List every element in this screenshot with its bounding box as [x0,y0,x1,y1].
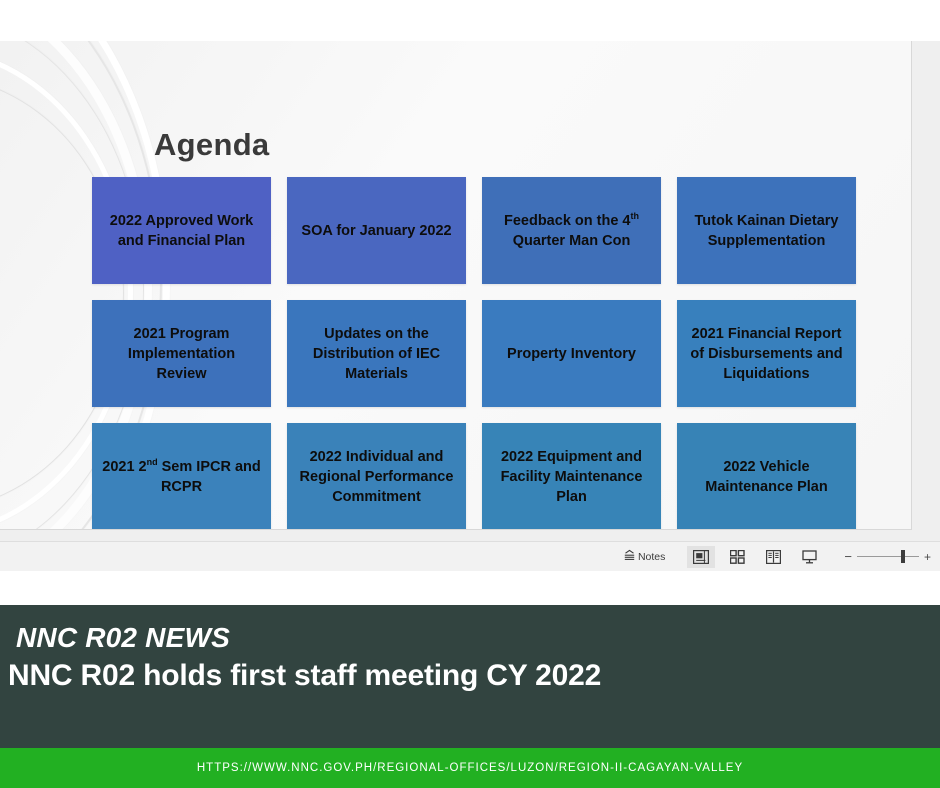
tile-ipcr-rcpr[interactable]: 2021 2nd Sem IPCR and RCPR [92,423,271,530]
tile-label: Quarter Man Con [513,233,631,249]
tile-label: 2022 Vehicle Maintenance Plan [686,457,847,497]
notes-label: Notes [638,551,665,563]
agenda-tile-grid: 2022 Approved Work and Financial PlanSOA… [92,177,857,530]
tile-label: Sem IPCR and RCPR [158,459,261,495]
tile-label: SOA for January 2022 [301,221,451,241]
notes-button[interactable]: Notes [623,549,665,565]
tile-label: 2022 Approved Work and Financial Plan [101,211,262,251]
powerpoint-canvas: Agenda 2022 Approved Work and Financial … [0,41,940,541]
tile-label-superscript: nd [147,457,158,467]
zoom-controls[interactable]: − + [839,549,936,564]
tile-label-superscript: th [631,211,640,221]
website-url: HTTPS://WWW.NNC.GOV.PH/REGIONAL-OFFICES/… [197,762,743,774]
tile-financial-report[interactable]: 2021 Financial Report of Disbursements a… [677,300,856,407]
tile-label: Updates on the Distribution of IEC Mater… [296,324,457,384]
tile-iec-materials[interactable]: Updates on the Distribution of IEC Mater… [287,300,466,407]
top-white-strip [0,0,940,41]
tile-label: 2022 Equipment and Facility Maintenance … [491,447,652,507]
tile-vehicle-maintenance-plan[interactable]: 2022 Vehicle Maintenance Plan [677,423,856,530]
tile-label: 2021 2 [102,459,146,475]
zoom-slider[interactable] [857,556,919,557]
tile-label: 2021 Program Implementation Review [101,324,262,384]
tile-label: 2022 Individual and Regional Performance… [296,447,457,507]
news-banner: NNC R02 NEWS NNC R02 holds first staff m… [0,605,940,748]
zoom-slider-handle[interactable] [901,550,905,563]
zoom-in-button[interactable]: + [919,550,936,564]
tile-property-inventory[interactable]: Property Inventory [482,300,661,407]
tile-feedback-man-con[interactable]: Feedback on the 4th Quarter Man Con [482,177,661,284]
tile-label: 2021 Financial Report of Disbursements a… [686,324,847,384]
tile-tutok-kainan[interactable]: Tutok Kainan Dietary Supplementation [677,177,856,284]
slide-title: Agenda [154,127,269,163]
url-bar: HTTPS://WWW.NNC.GOV.PH/REGIONAL-OFFICES/… [0,748,940,788]
notes-icon [623,549,636,565]
tile-performance-commitment[interactable]: 2022 Individual and Regional Performance… [287,423,466,530]
presentation-slide[interactable]: Agenda 2022 Approved Work and Financial … [0,41,912,530]
tile-equipment-facility-plan[interactable]: 2022 Equipment and Facility Maintenance … [482,423,661,530]
powerpoint-status-bar: Notes [0,541,940,571]
tile-label: Property Inventory [507,344,636,364]
tile-soa-january[interactable]: SOA for January 2022 [287,177,466,284]
tile-program-implementation-review[interactable]: 2021 Program Implementation Review [92,300,271,407]
normal-view-icon[interactable] [687,546,715,568]
tile-label: Feedback on the 4 [504,213,631,229]
news-headline: NNC R02 holds first staff meeting CY 202… [8,659,601,693]
tile-work-financial-plan[interactable]: 2022 Approved Work and Financial Plan [92,177,271,284]
slide-sorter-icon[interactable] [723,546,751,568]
zoom-out-button[interactable]: − [839,549,857,564]
reading-view-icon[interactable] [759,546,787,568]
news-kicker: NNC R02 NEWS [16,622,230,654]
slideshow-icon[interactable] [795,546,823,568]
tile-label: Tutok Kainan Dietary Supplementation [686,211,847,251]
